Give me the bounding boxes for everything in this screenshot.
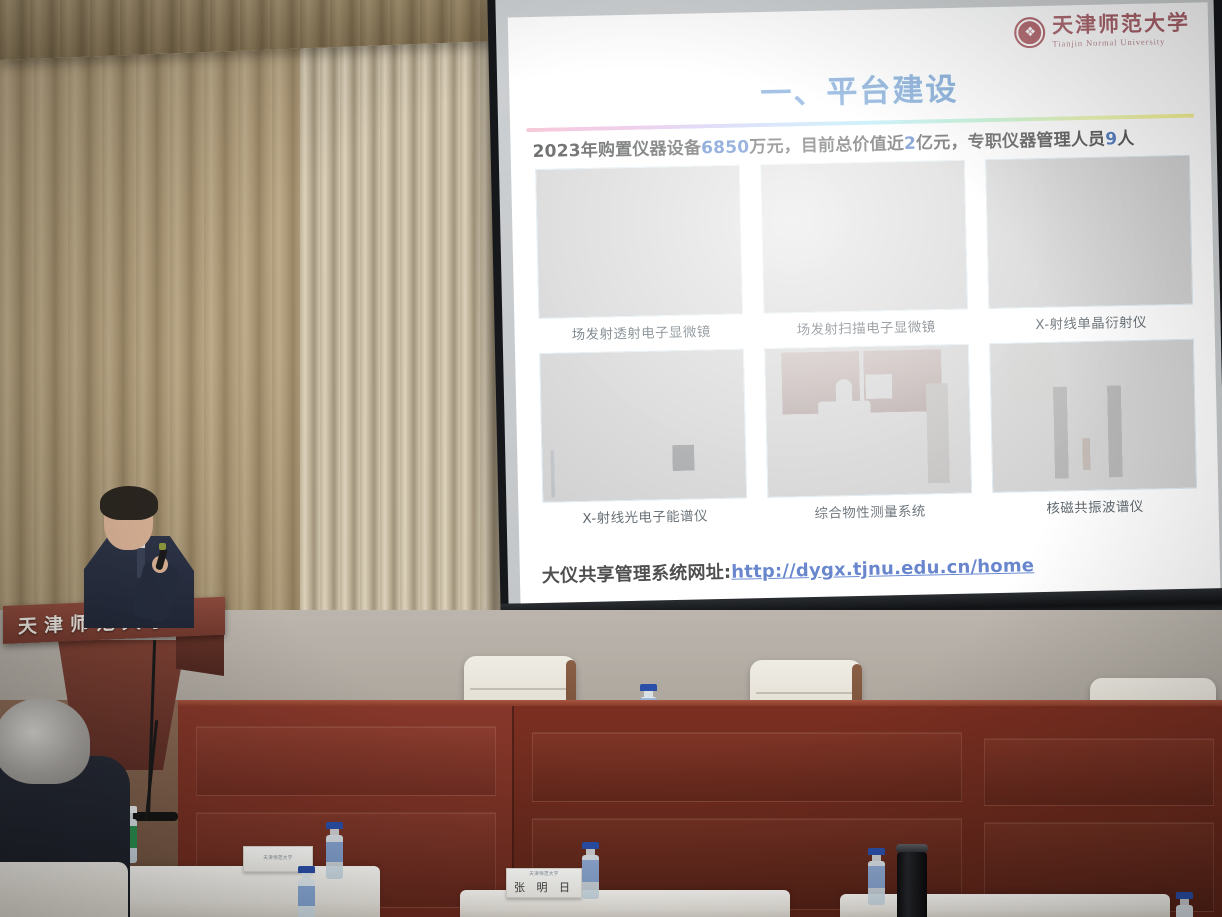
instrument-grid: 场发射透射电子显微镜 bbox=[535, 155, 1198, 537]
instrument-caption: 综合物性测量系统 bbox=[767, 499, 972, 523]
instrument-caption: X-射线光电子能谱仪 bbox=[542, 503, 747, 527]
instrument-cell: X-射线光电子能谱仪 bbox=[539, 348, 748, 536]
university-name-en: Tianjin Normal University bbox=[1052, 37, 1190, 49]
instrument-row-2: X-射线光电子能谱仪 bbox=[539, 339, 1198, 537]
screen-surface: ❖ 天津师范大学 Tianjin Normal University 一、平台建… bbox=[495, 0, 1222, 604]
physical-property-measurement-system-photo bbox=[764, 344, 972, 498]
name-card-org: 天津师范大学 bbox=[263, 855, 292, 861]
url-label: 大仪共享管理系统网址: bbox=[542, 562, 732, 587]
subtitle-seg-3: 亿元，专职仪器管理人员 bbox=[916, 130, 1106, 154]
nuclear-magnetic-resonance-spectrometer-photo bbox=[989, 339, 1197, 493]
projection-screen: ❖ 天津师范大学 Tianjin Normal University 一、平台建… bbox=[487, 0, 1222, 630]
name-card-name: 张 明 日 bbox=[514, 879, 574, 895]
instrument-cell: 核磁共振波谱仪 bbox=[989, 339, 1198, 527]
field-emission-scanning-electron-microscope-photo bbox=[760, 160, 968, 314]
university-logo: ❖ 天津师范大学 Tianjin Normal University bbox=[1014, 13, 1191, 49]
subtitle-total: 2 bbox=[904, 134, 916, 154]
instrument-row-1: 场发射透射电子显微镜 bbox=[535, 155, 1194, 353]
water-bottle bbox=[868, 848, 885, 905]
instrument-caption: 场发射透射电子显微镜 bbox=[538, 319, 743, 343]
microphone-led bbox=[159, 543, 166, 550]
microphone-stand-base bbox=[132, 812, 178, 821]
water-bottle bbox=[1176, 892, 1193, 917]
instrument-caption: 核磁共振波谱仪 bbox=[992, 494, 1197, 518]
instrument-caption: X-射线单晶衍射仪 bbox=[988, 310, 1193, 334]
front-desk-cloth bbox=[840, 894, 1170, 917]
instrument-cell: 综合物性测量系统 bbox=[764, 344, 973, 532]
sharing-platform-url-line: 大仪共享管理系统网址:http://dygx.tjnu.edu.cn/home bbox=[542, 548, 1202, 588]
university-name-cn: 天津师范大学 bbox=[1052, 13, 1190, 37]
subtitle-seg-1: 2023年购置仪器设备 bbox=[532, 138, 701, 162]
university-seal-icon: ❖ bbox=[1014, 17, 1046, 49]
presentation-slide: ❖ 天津师范大学 Tianjin Normal University 一、平台建… bbox=[508, 2, 1221, 613]
name-card-org: 天津师范大学 bbox=[529, 871, 558, 877]
x-ray-photoelectron-spectrometer-photo bbox=[539, 348, 747, 502]
instrument-cell: X-射线单晶衍射仪 bbox=[985, 155, 1194, 343]
instrument-caption: 场发射扫描电子显微镜 bbox=[763, 315, 968, 339]
field-emission-transmission-electron-microscope-photo bbox=[535, 165, 743, 319]
subtitle-staff-count: 9 bbox=[1105, 129, 1117, 149]
audience-chair bbox=[0, 862, 128, 917]
thermos-tumbler bbox=[897, 852, 927, 917]
instrument-cell: 场发射扫描电子显微镜 bbox=[760, 160, 969, 348]
slide-title: 一、平台建设 bbox=[509, 58, 1210, 118]
instrument-cell: 场发射透射电子显微镜 bbox=[535, 165, 744, 353]
water-bottle bbox=[582, 842, 599, 899]
subtitle-seg-2: 万元，目前总价值近 bbox=[749, 134, 904, 157]
water-bottle bbox=[298, 866, 315, 917]
subtitle-amount: 6850 bbox=[701, 137, 750, 158]
audience-member-head bbox=[0, 698, 90, 784]
x-ray-single-crystal-diffractometer-photo bbox=[985, 155, 1193, 309]
sharing-platform-url[interactable]: http://dygx.tjnu.edu.cn/home bbox=[731, 555, 1034, 583]
subtitle-seg-4: 人 bbox=[1117, 129, 1135, 149]
name-card: 天津师范大学 张 明 日 bbox=[506, 868, 582, 898]
presentation-photo-scene: ❖ 天津师范大学 Tianjin Normal University 一、平台建… bbox=[0, 0, 1222, 917]
water-bottle bbox=[326, 822, 343, 879]
speaker-hair bbox=[100, 486, 158, 520]
